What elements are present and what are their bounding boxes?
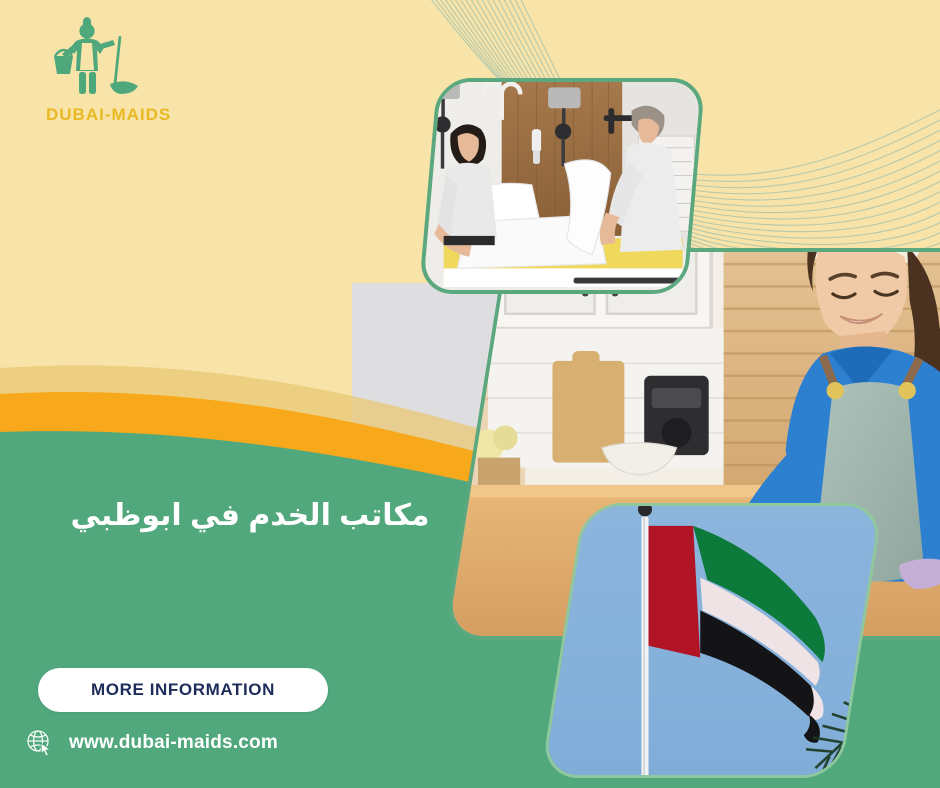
website-url[interactable]: www.dubai-maids.com (69, 732, 278, 754)
hotel-room-illustration (419, 78, 706, 294)
globe-with-cursor-icon (25, 728, 55, 758)
page-title: مكاتب الخدم في ابوظبي (0, 498, 500, 534)
more-information-button[interactable]: MORE INFORMATION (38, 668, 328, 712)
brand-logo[interactable]: DUBAI-MAIDS (30, 14, 210, 125)
footer-contact: www.dubai-maids.com (25, 728, 278, 758)
promotional-poster: مكاتب الخدم في ابوظبي (0, 0, 940, 788)
uae-flag-illustration (540, 503, 884, 778)
more-information-label: MORE INFORMATION (91, 680, 275, 700)
hotel-room-photo (419, 78, 706, 294)
uae-flag-photo (540, 503, 884, 778)
brand-name: DUBAI-MAIDS (46, 105, 210, 125)
maid-with-bucket-and-broom-icon (40, 14, 145, 99)
